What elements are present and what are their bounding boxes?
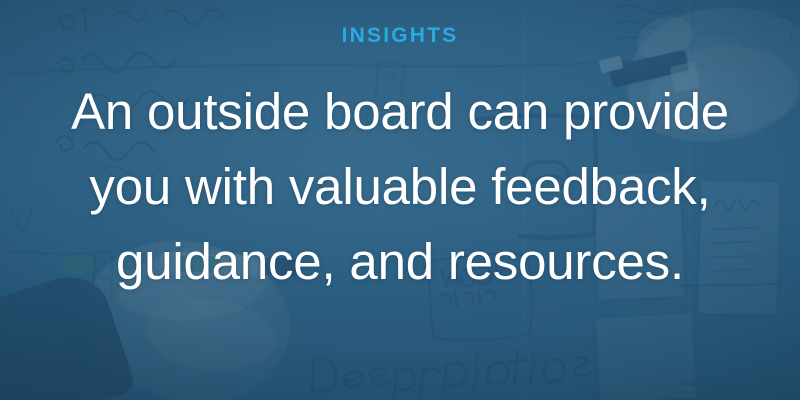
headline-line-2: you with valuable feedback, (30, 149, 770, 224)
card-content: INSIGHTS An outside board can provide yo… (0, 0, 800, 400)
insights-quote-card: INSIGHTS An outside board can provide yo… (0, 0, 800, 400)
kicker-label: INSIGHTS (342, 25, 459, 46)
headline-line-1: An outside board can provide (30, 74, 770, 149)
headline: An outside board can provide you with va… (30, 74, 770, 299)
headline-line-3: guidance, and resources. (30, 224, 770, 299)
